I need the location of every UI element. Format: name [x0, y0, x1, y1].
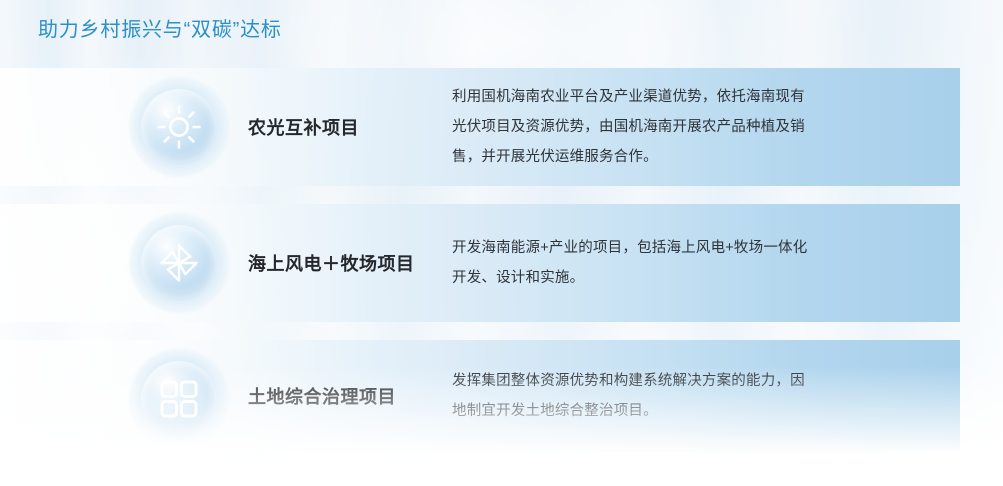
sun-icon: [141, 89, 217, 165]
card-body-text: 利用国机海南农业平台及产业渠道优势，依托海南现有光伏项目及资源优势，由国机海南开…: [452, 82, 813, 172]
card-body-text: 开发海南能源+产业的项目，包括海上风电+牧场一体化开发、设计和实施。: [452, 233, 813, 293]
card-body: 开发海南能源+产业的项目，包括海上风电+牧场一体化开发、设计和实施。: [452, 204, 813, 322]
project-card-row: 农光互补项目 利用国机海南农业平台及产业渠道优势，依托海南现有光伏项目及资源优势…: [0, 68, 1003, 186]
wind-turbine-icon: [141, 225, 217, 301]
project-card-row: 海上风电＋牧场项目 开发海南能源+产业的项目，包括海上风电+牧场一体化开发、设计…: [0, 204, 1003, 322]
icon-badge: [129, 213, 229, 313]
page-title: 助力乡村振兴与“双碳”达标: [38, 13, 282, 42]
background-bottom-fade: [0, 366, 1003, 486]
slide-canvas: 助力乡村振兴与“双碳”达标 农光互补项目: [0, 0, 1003, 486]
card-title: 海上风电＋牧场项目: [248, 204, 415, 322]
card-body: 利用国机海南农业平台及产业渠道优势，依托海南现有光伏项目及资源优势，由国机海南开…: [452, 68, 813, 186]
icon-badge: [129, 77, 229, 177]
card-title: 农光互补项目: [248, 68, 359, 186]
